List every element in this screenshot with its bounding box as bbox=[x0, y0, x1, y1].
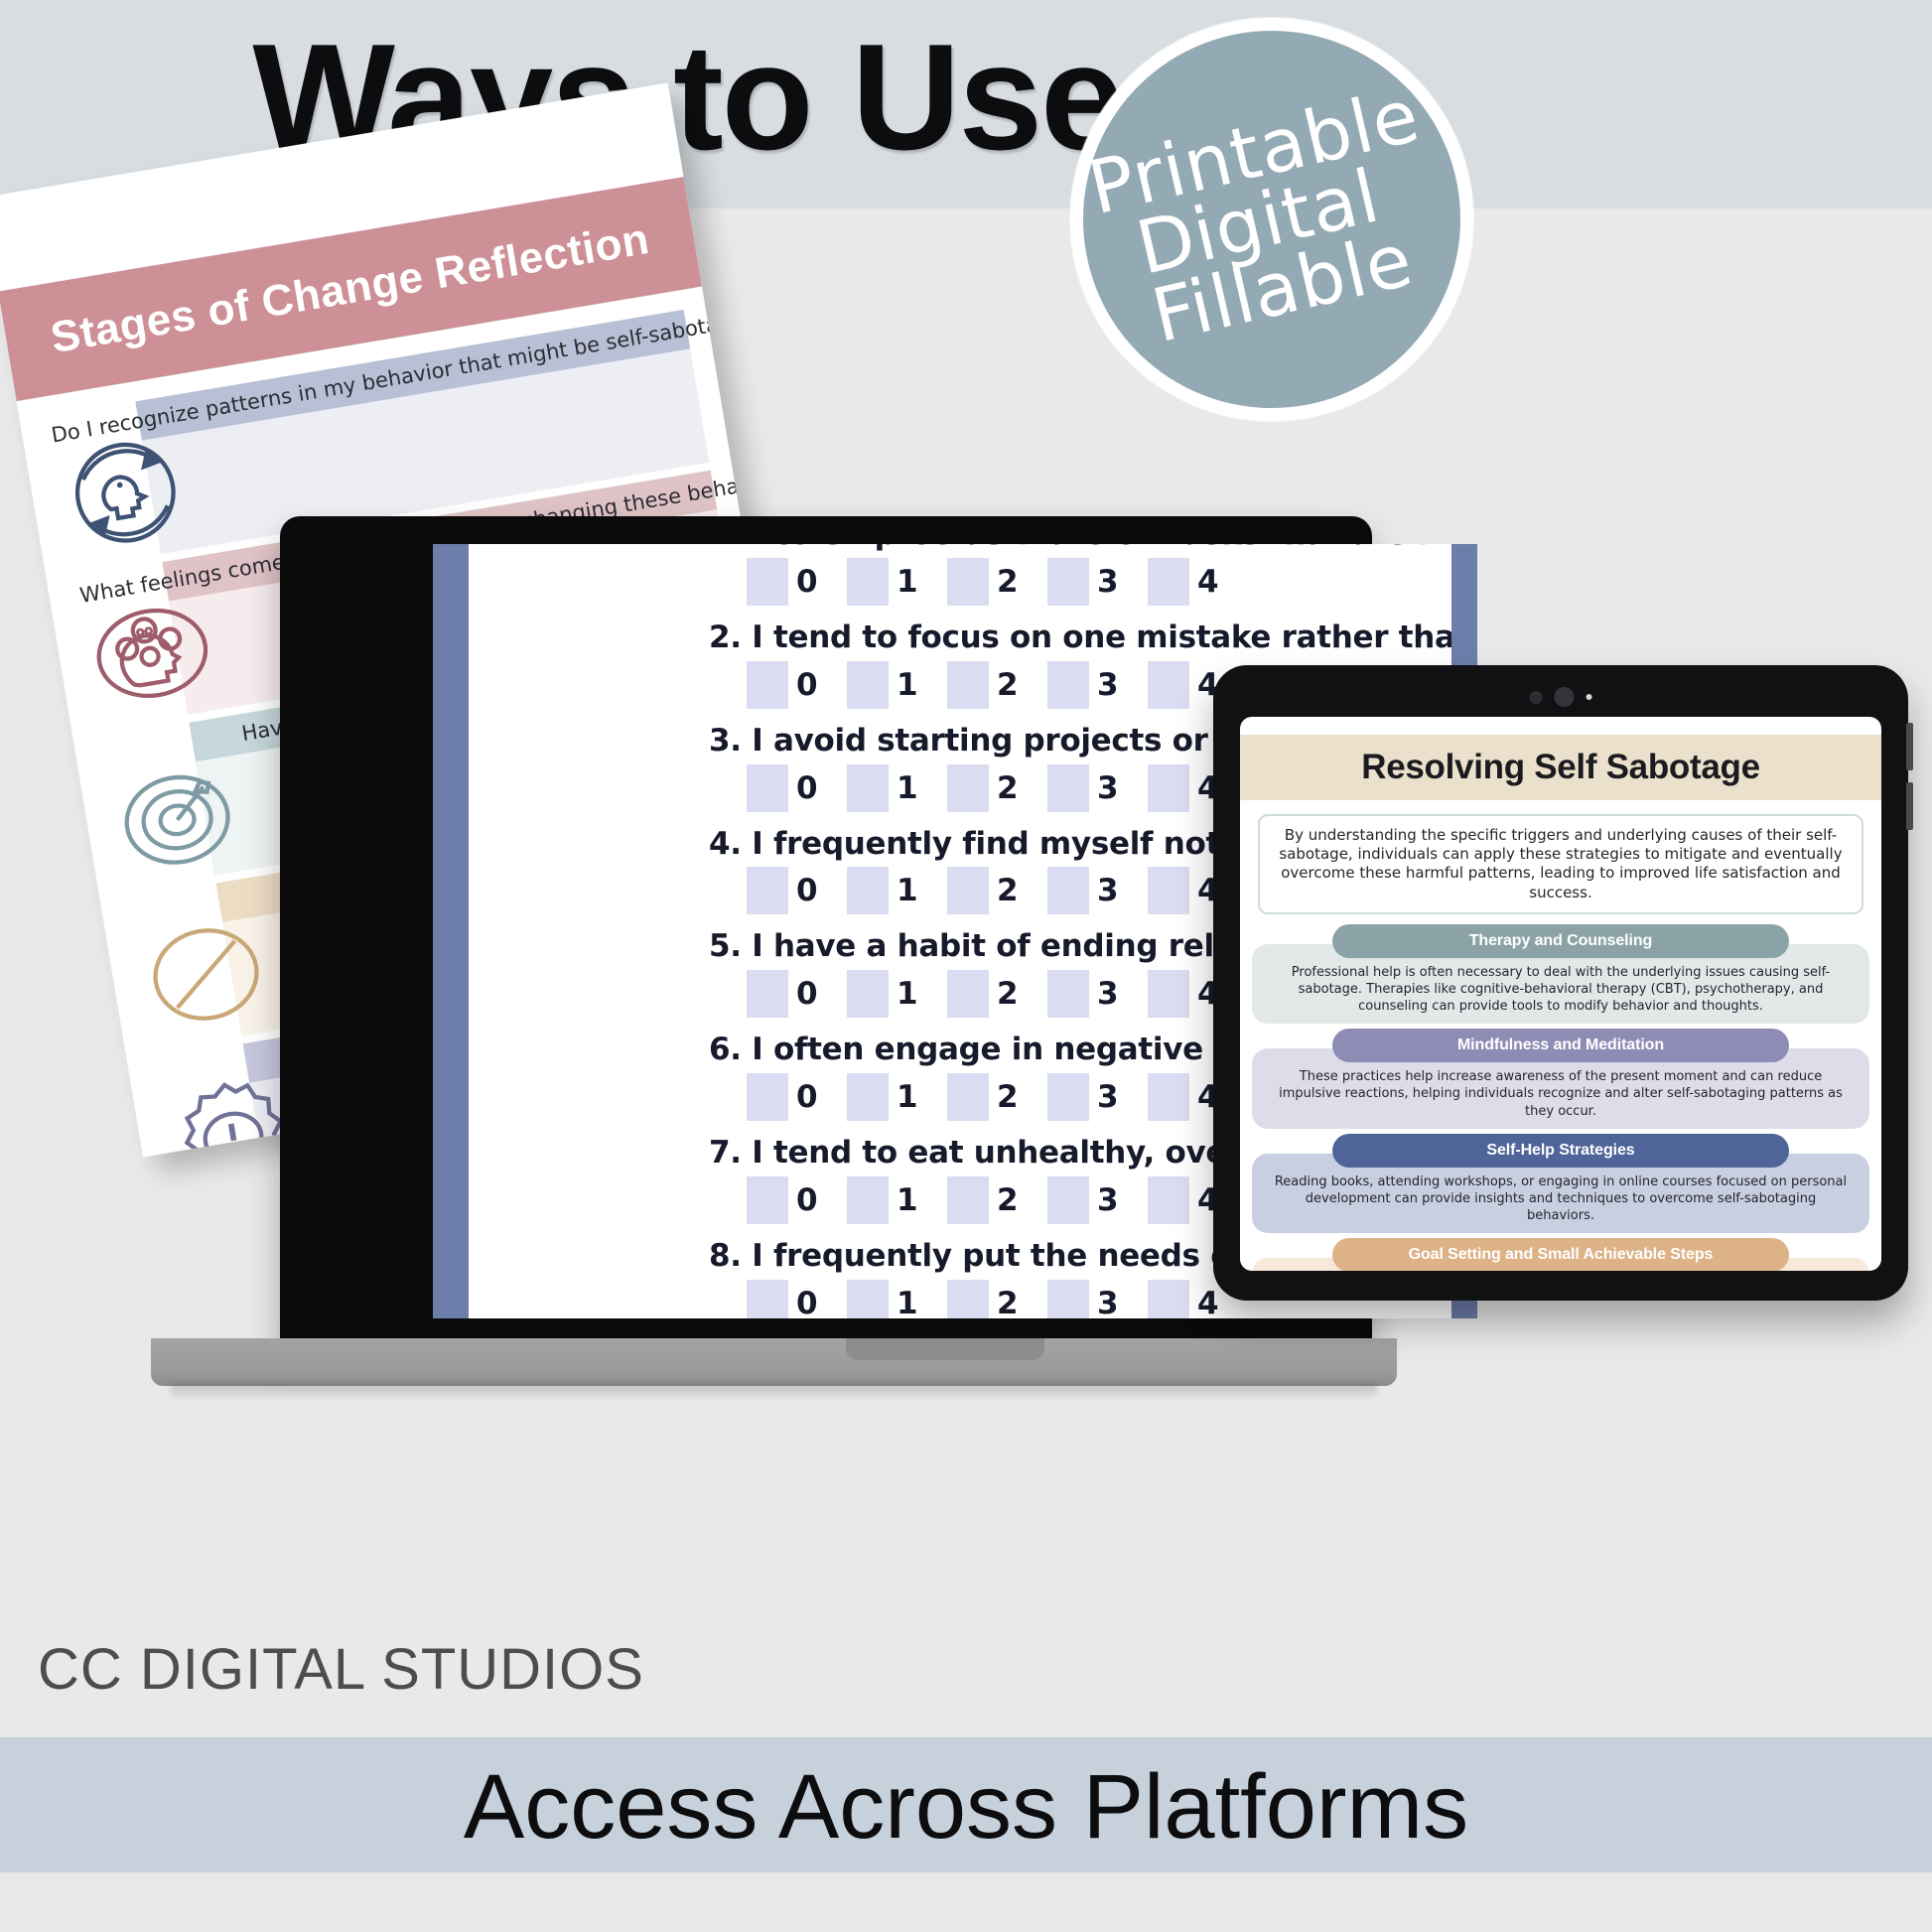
quiz-scale-label: 0 bbox=[796, 1182, 818, 1218]
quiz-scale-label: 2 bbox=[997, 1182, 1019, 1218]
quiz-checkbox[interactable] bbox=[747, 867, 788, 914]
laptop-trackpad-notch bbox=[846, 1338, 1044, 1360]
quiz-scale-label: 0 bbox=[796, 667, 818, 703]
quiz-scale-option[interactable]: 1 bbox=[847, 558, 947, 606]
quiz-scale-label: 1 bbox=[897, 564, 918, 600]
quiz-checkbox[interactable] bbox=[1148, 661, 1189, 709]
quiz-scale-option[interactable]: 0 bbox=[747, 867, 847, 914]
quiz-scale-label: 0 bbox=[796, 1079, 818, 1115]
tablet-camera-row bbox=[1530, 687, 1592, 707]
quiz-question: 2. I tend to focus on one mistake rather… bbox=[709, 621, 1451, 654]
strategy-heading: Goal Setting and Small Achievable Steps bbox=[1332, 1238, 1789, 1271]
quiz-scale-label: 3 bbox=[1097, 1079, 1119, 1115]
quiz-scale-label: 2 bbox=[997, 770, 1019, 806]
quiz-scale-option[interactable]: 3 bbox=[1047, 970, 1148, 1018]
quiz-checkbox[interactable] bbox=[947, 1176, 989, 1224]
quiz-checkbox[interactable] bbox=[1148, 867, 1189, 914]
quiz-scale-option[interactable]: 1 bbox=[847, 764, 947, 812]
quiz-scale-option[interactable]: 0 bbox=[747, 1280, 847, 1318]
quiz-scale-label: 1 bbox=[897, 1286, 918, 1318]
quiz-scale-label: 0 bbox=[796, 873, 818, 908]
quiz-checkbox[interactable] bbox=[847, 1280, 889, 1318]
laptop-mockup: 1. I often procrastinate on tasks that a… bbox=[151, 516, 1397, 1400]
quiz-checkbox[interactable] bbox=[947, 764, 989, 812]
quiz-scale-option[interactable]: 0 bbox=[747, 558, 847, 606]
quiz-scale-label: 2 bbox=[997, 976, 1019, 1012]
quiz-scale-label: 0 bbox=[796, 770, 818, 806]
quiz-checkbox[interactable] bbox=[947, 558, 989, 606]
quiz-checkbox[interactable] bbox=[947, 970, 989, 1018]
laptop-base bbox=[151, 1338, 1397, 1386]
tablet-volume-up-button[interactable] bbox=[1906, 723, 1913, 770]
quiz-checkbox[interactable] bbox=[747, 661, 788, 709]
quiz-scale-option[interactable]: 3 bbox=[1047, 1280, 1148, 1318]
printable-digital-fillable-badge: Printable Digital Fillable bbox=[1070, 18, 1473, 421]
quiz-scale-label: 2 bbox=[997, 564, 1019, 600]
quiz-checkbox[interactable] bbox=[747, 558, 788, 606]
quiz-scale-option[interactable]: 3 bbox=[1047, 558, 1148, 606]
quiz-scale-option[interactable]: 2 bbox=[947, 867, 1047, 914]
quiz-scale-label: 1 bbox=[897, 1079, 918, 1115]
quiz-scale-option[interactable]: 0 bbox=[747, 1176, 847, 1224]
tablet-document-title: Resolving Self Sabotage bbox=[1361, 748, 1760, 787]
strategy-section: Self-Help StrategiesReading books, atten… bbox=[1252, 1134, 1869, 1233]
quiz-question: 1. I often procrastinate on tasks that a… bbox=[709, 544, 1451, 551]
quiz-scale-option[interactable]: 1 bbox=[847, 1176, 947, 1224]
quiz-scale-option[interactable]: 2 bbox=[947, 1176, 1047, 1224]
quiz-scale-option[interactable]: 3 bbox=[1047, 1176, 1148, 1224]
strategy-section: Therapy and CounselingProfessional help … bbox=[1252, 924, 1869, 1024]
quiz-scale-option[interactable]: 2 bbox=[947, 558, 1047, 606]
quiz-checkbox[interactable] bbox=[947, 1073, 989, 1121]
strategy-heading: Mindfulness and Meditation bbox=[1332, 1029, 1789, 1062]
quiz-checkbox[interactable] bbox=[1148, 1073, 1189, 1121]
quiz-checkbox[interactable] bbox=[1047, 1073, 1089, 1121]
quiz-checkbox[interactable] bbox=[1148, 1280, 1189, 1318]
footer-background-band bbox=[0, 1872, 1932, 1932]
quiz-checkbox[interactable] bbox=[847, 1176, 889, 1224]
quiz-checkbox[interactable] bbox=[947, 661, 989, 709]
document-left-accent-bar bbox=[433, 544, 469, 1318]
quiz-scale-option[interactable]: 1 bbox=[847, 970, 947, 1018]
strategy-section: Goal Setting and Small Achievable StepsS… bbox=[1252, 1238, 1869, 1271]
quiz-scale-label: 2 bbox=[997, 667, 1019, 703]
laptop-shadow bbox=[171, 1384, 1377, 1400]
strategy-heading: Self-Help Strategies bbox=[1332, 1134, 1789, 1168]
quiz-scale-option[interactable]: 2 bbox=[947, 970, 1047, 1018]
quiz-scale-option[interactable]: 1 bbox=[847, 1280, 947, 1318]
tablet-title-bar: Resolving Self Sabotage bbox=[1240, 735, 1881, 800]
quiz-scale-label: 3 bbox=[1097, 1286, 1119, 1318]
sensor-dot-icon bbox=[1530, 691, 1543, 704]
quiz-checkbox[interactable] bbox=[1047, 1176, 1089, 1224]
tablet-strategy-list: Therapy and CounselingProfessional help … bbox=[1252, 924, 1869, 1271]
indicator-light-icon bbox=[1587, 694, 1592, 700]
quiz-scale-label: 3 bbox=[1097, 770, 1119, 806]
tablet-mockup: Resolving Self Sabotage By understanding… bbox=[1213, 665, 1908, 1301]
quiz-scale-option[interactable]: 1 bbox=[847, 661, 947, 709]
strategy-heading: Therapy and Counseling bbox=[1332, 924, 1789, 958]
quiz-scale-option[interactable]: 2 bbox=[947, 1073, 1047, 1121]
quiz-scale-label: 3 bbox=[1097, 976, 1119, 1012]
quiz-checkbox[interactable] bbox=[747, 1073, 788, 1121]
quiz-checkbox[interactable] bbox=[1148, 764, 1189, 812]
laptop-lid: 1. I often procrastinate on tasks that a… bbox=[280, 516, 1372, 1344]
quiz-scale-label: 0 bbox=[796, 1286, 818, 1318]
quiz-scale-label: 0 bbox=[796, 976, 818, 1012]
quiz-checkbox[interactable] bbox=[947, 867, 989, 914]
tablet-volume-down-button[interactable] bbox=[1906, 782, 1913, 830]
quiz-checkbox[interactable] bbox=[847, 1073, 889, 1121]
quiz-scale-option[interactable]: 3 bbox=[1047, 661, 1148, 709]
quiz-checkbox[interactable] bbox=[847, 970, 889, 1018]
quiz-checkbox[interactable] bbox=[747, 1280, 788, 1318]
quiz-scale-label: 3 bbox=[1097, 873, 1119, 908]
quiz-scale-option[interactable]: 2 bbox=[947, 661, 1047, 709]
quiz-scale-option[interactable]: 3 bbox=[1047, 867, 1148, 914]
quiz-scale: 01234 bbox=[747, 558, 1451, 606]
quiz-checkbox[interactable] bbox=[1148, 970, 1189, 1018]
quiz-scale-option[interactable]: 3 bbox=[1047, 1073, 1148, 1121]
quiz-scale-label: 1 bbox=[897, 976, 918, 1012]
strategy-section: Mindfulness and MeditationThese practice… bbox=[1252, 1029, 1869, 1128]
quiz-scale-option[interactable]: 2 bbox=[947, 1280, 1047, 1318]
quiz-checkbox[interactable] bbox=[1047, 558, 1089, 606]
quiz-checkbox[interactable] bbox=[747, 1176, 788, 1224]
quiz-scale-label: 2 bbox=[997, 1079, 1019, 1115]
quiz-checkbox[interactable] bbox=[1148, 558, 1189, 606]
quiz-checkbox[interactable] bbox=[847, 867, 889, 914]
quiz-scale-label: 1 bbox=[897, 873, 918, 908]
quiz-scale-label: 4 bbox=[1197, 564, 1219, 600]
quiz-scale-option[interactable]: 1 bbox=[847, 867, 947, 914]
quiz-checkbox[interactable] bbox=[1148, 1176, 1189, 1224]
quiz-scale-label: 1 bbox=[897, 770, 918, 806]
quiz-scale-label: 2 bbox=[997, 1286, 1019, 1318]
quiz-checkbox[interactable] bbox=[747, 764, 788, 812]
quiz-scale-option[interactable]: 0 bbox=[747, 1073, 847, 1121]
camera-lens-icon bbox=[1555, 687, 1575, 707]
brand-name: CC DIGITAL STUDIOS bbox=[38, 1636, 644, 1703]
quiz-scale-label: 0 bbox=[796, 564, 818, 600]
quiz-checkbox[interactable] bbox=[847, 558, 889, 606]
quiz-checkbox[interactable] bbox=[1047, 867, 1089, 914]
quiz-scale-option[interactable]: 1 bbox=[847, 1073, 947, 1121]
quiz-scale-label: 3 bbox=[1097, 1182, 1119, 1218]
quiz-scale-option[interactable]: 0 bbox=[747, 970, 847, 1018]
quiz-checkbox[interactable] bbox=[1047, 661, 1089, 709]
quiz-scale-option[interactable]: 0 bbox=[747, 661, 847, 709]
quiz-scale-option[interactable]: 4 bbox=[1148, 558, 1248, 606]
quiz-checkbox[interactable] bbox=[1047, 764, 1089, 812]
quiz-scale-label: 3 bbox=[1097, 564, 1119, 600]
quiz-scale-label: 1 bbox=[897, 1182, 918, 1218]
quiz-checkbox[interactable] bbox=[1047, 1280, 1089, 1318]
quiz-scale-option[interactable]: 3 bbox=[1047, 764, 1148, 812]
quiz-checkbox[interactable] bbox=[847, 764, 889, 812]
tablet-body: Resolving Self Sabotage By understanding… bbox=[1213, 665, 1908, 1301]
quiz-checkbox[interactable] bbox=[1047, 970, 1089, 1018]
quiz-scale-option[interactable]: 2 bbox=[947, 764, 1047, 812]
tablet-screen: Resolving Self Sabotage By understanding… bbox=[1240, 717, 1881, 1271]
quiz-checkbox[interactable] bbox=[947, 1280, 989, 1318]
quiz-checkbox[interactable] bbox=[747, 970, 788, 1018]
quiz-scale-label: 2 bbox=[997, 873, 1019, 908]
tablet-intro-text: By understanding the specific triggers a… bbox=[1258, 814, 1863, 914]
quiz-checkbox[interactable] bbox=[847, 661, 889, 709]
quiz-scale-option[interactable]: 0 bbox=[747, 764, 847, 812]
footer-tagline: Access Across Platforms bbox=[0, 1755, 1932, 1860]
quiz-scale-label: 3 bbox=[1097, 667, 1119, 703]
quiz-scale-label: 1 bbox=[897, 667, 918, 703]
